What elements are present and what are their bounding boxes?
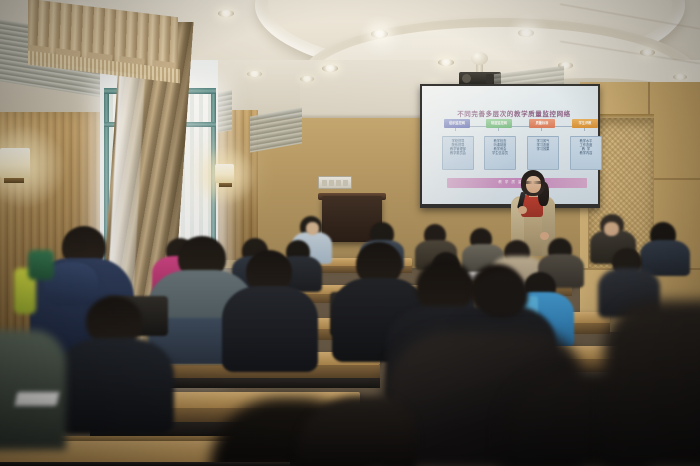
attendee-face <box>306 222 319 235</box>
wall-sconce-left-base <box>4 178 24 183</box>
presenter-hand <box>518 206 527 214</box>
wall-sconce-mid <box>215 164 234 183</box>
ceiling-downlight <box>640 49 655 56</box>
attendee-foreground-right <box>604 300 700 466</box>
presenter-face <box>526 176 541 193</box>
projector-knob <box>486 74 493 84</box>
ceiling-downlight <box>371 30 388 38</box>
desk-shadow <box>0 462 290 466</box>
lecture-hall-photo: 不同完善多层次的教学质量监控网络 组织监控网 制度监控网 质量标准 学生评教 学… <box>0 0 700 466</box>
attendee-face <box>604 222 619 236</box>
presenter-hand-2 <box>540 232 549 240</box>
wall-sconce-left <box>0 148 30 178</box>
wall-sconce-mid-base <box>219 183 232 187</box>
projector-mount-ball <box>471 52 488 65</box>
glasses-icon <box>526 181 541 184</box>
wall-switch-plate[interactable] <box>318 176 352 189</box>
screen-sheen <box>422 86 598 204</box>
attendee-head <box>476 272 528 318</box>
ceiling-downlight <box>438 59 454 66</box>
ceiling-downlight <box>300 76 314 82</box>
attendee-body <box>222 286 318 372</box>
ceiling-downlight <box>322 65 338 72</box>
green-bag <box>28 250 54 280</box>
ceiling-downlight <box>673 74 687 80</box>
attendee-foreground-left <box>0 330 66 450</box>
projector-lens-icon <box>462 74 471 83</box>
ceiling-downlight <box>518 29 534 37</box>
attendee-body <box>56 338 174 434</box>
ceiling-downlight <box>218 10 234 17</box>
ceiling-downlight <box>247 71 262 77</box>
desk-shadow <box>150 378 380 388</box>
notebook-papers <box>15 392 60 406</box>
